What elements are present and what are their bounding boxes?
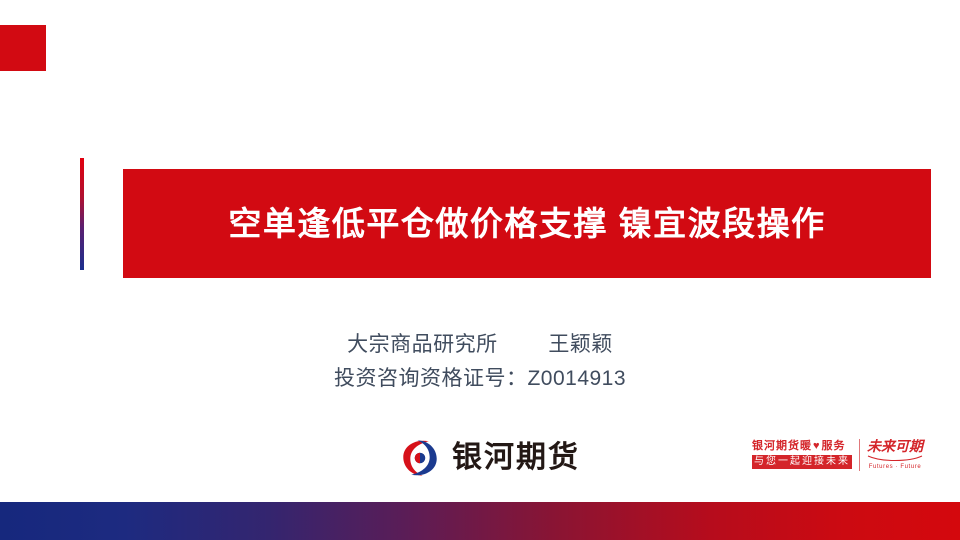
bottom-gradient-band (0, 502, 960, 540)
page-title: 空单逢低平仓做价格支撑 镍宜波段操作 (228, 207, 825, 240)
subtitle-block: 大宗商品研究所 王颖颖 投资咨询资格证号：Z0014913 (0, 328, 960, 396)
slogan-lockup: 银河期货暖 ♥ 服务 与您一起迎接未来 未来可期 Futures · Futur… (752, 438, 923, 471)
galaxy-futures-logo-icon (398, 436, 442, 480)
slogan-top-before-heart: 银河期货暖 (752, 440, 812, 453)
slogan-top-after-heart: 服务 (822, 440, 846, 453)
title-banner: 空单逢低平仓做价格支撑 镍宜波段操作 (123, 169, 931, 278)
footer-logo-row: 银河期货 银河期货暖 ♥ 服务 与您一起迎接未来 未来可期 Futures · … (0, 432, 960, 490)
brand-lockup: 银河期货 (398, 436, 580, 480)
presentation-title-slide: 空单逢低平仓做价格支撑 镍宜波段操作 大宗商品研究所 王颖颖 投资咨询资格证号：… (0, 0, 960, 540)
heart-icon: ♥ (813, 441, 821, 452)
decorative-corner-block (0, 25, 46, 71)
slogan-right-english: Futures · Future (869, 463, 922, 471)
slogan-bottom-line: 与您一起迎接未来 (752, 455, 852, 469)
slogan-top-line: 银河期货暖 ♥ 服务 (752, 440, 852, 453)
subtitle-license-line: 投资咨询资格证号：Z0014913 (0, 362, 960, 396)
brand-name: 银河期货 (452, 443, 580, 473)
swoosh-icon (867, 455, 923, 462)
slogan-left-block: 银河期货暖 ♥ 服务 与您一起迎接未来 (752, 440, 852, 469)
subtitle-author-line: 大宗商品研究所 王颖颖 (0, 328, 960, 362)
slogan-divider (859, 439, 860, 471)
slogan-right-chinese: 未来可期 (867, 438, 923, 454)
decorative-accent-bar (80, 158, 84, 270)
slogan-right-block: 未来可期 Futures · Future (867, 438, 923, 471)
